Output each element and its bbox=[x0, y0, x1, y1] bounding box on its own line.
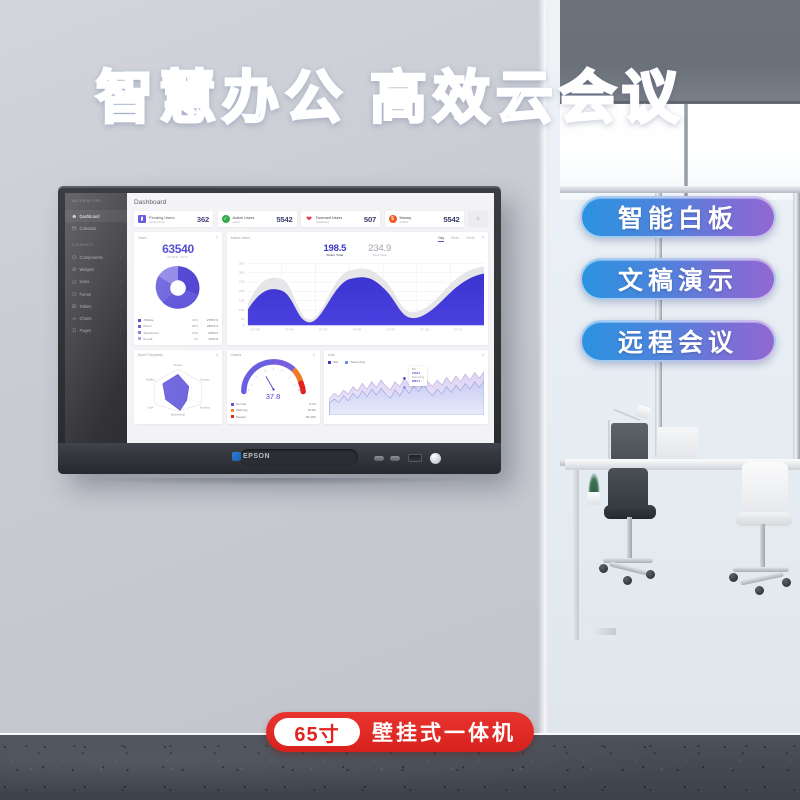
sidebar-item-pages[interactable]: Pages › bbox=[65, 325, 127, 337]
feature-badge-remote-meeting[interactable]: 远程会议 bbox=[580, 320, 776, 362]
book-icon: ▮ bbox=[138, 215, 146, 223]
svg-text:350: 350 bbox=[238, 262, 244, 266]
desk-leg bbox=[572, 470, 579, 640]
active-users-card: Active Users Day Week Month 198.5 B bbox=[227, 232, 489, 345]
sales-total-value: 63540 bbox=[138, 242, 218, 256]
gear-icon[interactable] bbox=[215, 353, 219, 357]
chair-caster bbox=[646, 570, 655, 579]
port-1[interactable] bbox=[374, 456, 384, 461]
sales-more-info-link[interactable]: MORE INFO bbox=[138, 255, 218, 259]
page-title: 智慧办公 高效云会议 bbox=[96, 62, 716, 134]
wall-mounted-display: Material Pro Dashboard Calendar Elements… bbox=[58, 186, 501, 474]
svg-text:07-10: 07-10 bbox=[420, 328, 429, 331]
chevron-right-icon: › bbox=[120, 280, 121, 284]
chair-caster bbox=[599, 564, 608, 573]
stat-card-money[interactable]: $ Money dollars 5542 bbox=[385, 211, 464, 227]
legend-label: Swimming bbox=[350, 360, 364, 364]
sidebar-item-calendar[interactable]: Calendar bbox=[65, 222, 127, 234]
desk-lamp-post bbox=[608, 420, 610, 460]
legend-label: Sponsored bbox=[144, 331, 186, 335]
home-icon bbox=[72, 214, 77, 219]
sidebar-item-dashboard[interactable]: Dashboard bbox=[65, 210, 127, 222]
port-2[interactable] bbox=[390, 456, 400, 461]
legend-value: 22874.4 bbox=[198, 324, 218, 328]
sport-popularity-card: Sport Popularity bbox=[134, 350, 222, 424]
sidebar-item-label: Pages bbox=[80, 328, 92, 333]
legend-swatch bbox=[138, 337, 141, 340]
window-frame-horizontal bbox=[560, 186, 800, 193]
screen-size-label: 65寸 bbox=[274, 718, 360, 746]
form-icon bbox=[72, 292, 77, 297]
usb-port[interactable] bbox=[408, 454, 422, 462]
legend-label: Bid bbox=[334, 360, 338, 364]
monitor-back bbox=[611, 423, 648, 461]
chair-post bbox=[627, 517, 632, 561]
chevron-right-icon: › bbox=[120, 316, 121, 320]
dashboard-row-2: Sport Popularity bbox=[134, 350, 488, 424]
feature-badge-list: 智能白板 文稿演示 远程会议 bbox=[580, 196, 780, 382]
gauge-chart-svg: 0100 bbox=[231, 357, 316, 397]
metric-row: 198.5 Boiler Total 234.9 Flow Total bbox=[231, 243, 485, 257]
sidebar-item-tables[interactable]: Tables › bbox=[65, 300, 127, 312]
chevron-right-icon: › bbox=[120, 292, 121, 296]
legend-swatch bbox=[231, 409, 234, 412]
sidebar-item-label: Components bbox=[80, 255, 103, 260]
legend-label: Warning bbox=[236, 408, 296, 412]
legend-swatch bbox=[138, 319, 141, 322]
add-card-button[interactable]: + bbox=[468, 211, 488, 227]
legend-swatch bbox=[138, 331, 141, 334]
brand-logo: EPSON bbox=[232, 452, 270, 461]
power-led[interactable] bbox=[430, 453, 441, 464]
grid-icon bbox=[72, 255, 77, 260]
metric-flow-total: 234.9 Flow Total bbox=[368, 243, 391, 257]
sidebar-item-label: Forms bbox=[80, 292, 92, 297]
legend-item: Danger 90-100 bbox=[231, 413, 316, 419]
card-title: Sales bbox=[138, 236, 218, 240]
legend-percent: 44% bbox=[185, 318, 198, 322]
legend-value: 4447.8 bbox=[198, 337, 218, 341]
legend-range: 90-100 bbox=[296, 415, 316, 419]
legend-swatch bbox=[345, 361, 348, 364]
tab-week[interactable]: Week bbox=[451, 236, 459, 242]
svg-text:100: 100 bbox=[238, 309, 244, 313]
svg-text:07-08: 07-08 bbox=[352, 328, 361, 331]
legend-label: Danger bbox=[236, 415, 296, 419]
sidebar-item-label: Widgets bbox=[80, 267, 95, 272]
device-shadow bbox=[78, 478, 478, 486]
gear-icon[interactable] bbox=[215, 235, 219, 239]
claims-gauge-card: Claims bbox=[227, 350, 320, 424]
tab-month[interactable]: Month bbox=[466, 236, 475, 242]
legend-swatch bbox=[231, 415, 234, 418]
svg-text:Basketball: Basketball bbox=[171, 413, 185, 417]
chair-caster bbox=[623, 576, 632, 585]
legend-swatch bbox=[328, 361, 331, 364]
display-bottom-bezel: EPSON bbox=[58, 443, 501, 474]
legend-percent: 13% bbox=[185, 331, 198, 335]
chair-caster bbox=[755, 586, 764, 595]
sidebar-item-forms[interactable]: Forms › bbox=[65, 288, 127, 300]
leaf-icon: ✓ bbox=[222, 215, 230, 223]
legend-range: 70-90 bbox=[296, 408, 316, 412]
sales-card: Sales 63540 MORE INFO bbox=[134, 232, 222, 345]
chair-caster bbox=[729, 573, 738, 582]
stat-card-pending-users[interactable]: ▮ Pending Users newly joined 362 bbox=[134, 211, 213, 227]
sidebar-item-label: Calendar bbox=[80, 226, 97, 231]
line-chart-card: Line Bid Swimming bbox=[324, 350, 488, 424]
sidebar-item-components[interactable]: Components › bbox=[65, 251, 127, 263]
svg-text:07-11: 07-11 bbox=[454, 328, 463, 331]
chart-icon bbox=[72, 316, 77, 321]
logo-text: EPSON bbox=[243, 453, 270, 460]
heart-icon: ❤ bbox=[305, 215, 313, 223]
sidebar-item-label: Charts bbox=[80, 316, 92, 321]
area-chart-svg: 0 50 100 150 200 250 300 350 07-0507-06 … bbox=[231, 259, 485, 331]
svg-text:07-06: 07-06 bbox=[285, 328, 294, 331]
svg-text:0: 0 bbox=[242, 324, 244, 328]
stat-card-active-users[interactable]: ✓ Active Users active 5542 bbox=[218, 211, 297, 227]
coin-icon: $ bbox=[389, 215, 397, 223]
svg-text:Hockey: Hockey bbox=[200, 405, 211, 409]
sidebar: Material Pro Dashboard Calendar Elements… bbox=[65, 193, 127, 443]
page-icon bbox=[72, 328, 77, 333]
star-icon bbox=[72, 280, 77, 285]
stat-sublabel: dollars bbox=[400, 220, 441, 224]
svg-text:07-05: 07-05 bbox=[251, 328, 260, 331]
svg-text:07-09: 07-09 bbox=[386, 328, 395, 331]
badge-label: 文稿演示 bbox=[618, 261, 738, 297]
stat-sublabel: undefined bbox=[316, 220, 361, 224]
sidebar-brand: Material Pro bbox=[65, 199, 127, 210]
legend-value: 27957.6 bbox=[198, 318, 218, 322]
calendar-icon bbox=[72, 226, 77, 231]
svg-text:Soccer: Soccer bbox=[200, 378, 209, 382]
svg-text:Hobby: Hobby bbox=[146, 378, 155, 382]
stat-value: 507 bbox=[364, 215, 376, 224]
legend-range: 0-70 bbox=[296, 402, 316, 406]
stat-sublabel: active bbox=[233, 220, 274, 224]
svg-text:Golf: Golf bbox=[148, 405, 154, 409]
widget-icon bbox=[72, 267, 77, 272]
chart-tooltip: Bid 7318.4 Swimming 5861.7 bbox=[409, 366, 427, 386]
radar-series-polygon bbox=[163, 374, 189, 410]
sidebar-item-charts[interactable]: Charts › bbox=[65, 312, 127, 324]
legend-percent: 7% bbox=[185, 337, 198, 341]
metric-label: Boiler Total bbox=[323, 253, 346, 257]
chevron-right-icon: › bbox=[120, 329, 121, 333]
legend-value: 8260.2 bbox=[198, 331, 218, 335]
chevron-right-icon: › bbox=[120, 304, 121, 308]
legend-label: Normal bbox=[236, 402, 296, 406]
svg-text:150: 150 bbox=[238, 299, 244, 303]
svg-text:50: 50 bbox=[240, 318, 244, 322]
svg-text:250: 250 bbox=[238, 280, 244, 284]
tooltip-value: 5861.7 bbox=[412, 380, 424, 384]
plant-pot bbox=[587, 492, 600, 505]
dashboard-app: Material Pro Dashboard Calendar Elements… bbox=[65, 193, 494, 443]
metric-boiler-total: 198.5 Boiler Total bbox=[323, 243, 346, 257]
plant-foliage bbox=[588, 472, 600, 494]
product-spec-tag: 65寸 壁挂式一体机 bbox=[266, 712, 534, 752]
table-icon bbox=[72, 304, 77, 309]
svg-text:200: 200 bbox=[238, 290, 244, 294]
desk-foot bbox=[590, 628, 616, 635]
logo-mark-icon bbox=[232, 452, 241, 461]
laptop-screen bbox=[656, 427, 698, 460]
stat-value: 5542 bbox=[443, 215, 459, 224]
svg-text:Tennis: Tennis bbox=[174, 363, 183, 367]
svg-text:300: 300 bbox=[238, 271, 244, 275]
donut-chart-svg bbox=[152, 262, 204, 314]
radar-chart-svg: Tennis Soccer Hockey Basketball Golf Hob… bbox=[138, 357, 218, 419]
sidebar-item-label: Icons bbox=[80, 279, 90, 284]
sidebar-item-label: Tables bbox=[80, 304, 92, 309]
sidebar-item-icons[interactable]: Icons › bbox=[65, 276, 127, 288]
legend-label: E-mail bbox=[144, 337, 186, 341]
legend-item: E-mail 7% 4447.8 bbox=[138, 336, 218, 342]
legend-swatch bbox=[231, 403, 234, 406]
legend-swatch bbox=[138, 325, 141, 328]
svg-text:0: 0 bbox=[247, 390, 249, 392]
card-title: Active Users bbox=[231, 236, 251, 240]
legend-label: Affiliate bbox=[144, 318, 186, 322]
sidebar-section-label: Elements bbox=[65, 234, 127, 251]
legend-label: Direct bbox=[144, 324, 186, 328]
line-chart-svg bbox=[328, 365, 484, 415]
dashboard-page-title: Dashboard bbox=[134, 199, 488, 206]
badge-label: 智能白板 bbox=[618, 199, 738, 235]
badge-label: 远程会议 bbox=[618, 323, 738, 359]
stat-value: 362 bbox=[197, 215, 209, 224]
svg-text:07-07: 07-07 bbox=[318, 328, 327, 331]
gear-icon[interactable] bbox=[481, 235, 485, 239]
chair-caster bbox=[782, 578, 791, 587]
mount-type-label: 壁挂式一体机 bbox=[372, 717, 516, 747]
legend-percent: 38% bbox=[185, 324, 198, 328]
window-frame-vertical bbox=[793, 186, 800, 466]
display-screen[interactable]: Material Pro Dashboard Calendar Elements… bbox=[65, 193, 494, 443]
dashboard-row-1: Sales 63540 MORE INFO bbox=[134, 232, 488, 345]
feature-badge-whiteboard[interactable]: 智能白板 bbox=[580, 196, 776, 238]
donut-chart bbox=[138, 262, 218, 314]
time-range-tabs: Day Week Month bbox=[438, 236, 484, 242]
stat-sublabel: newly joined bbox=[149, 220, 194, 224]
gear-icon[interactable] bbox=[481, 353, 485, 357]
stat-value: 5542 bbox=[276, 215, 292, 224]
chevron-right-icon: › bbox=[120, 255, 121, 259]
sidebar-item-label: Dashboard bbox=[80, 214, 100, 219]
stat-card-row: ▮ Pending Users newly joined 362 ✓ Activ… bbox=[134, 211, 488, 227]
feature-badge-presentation[interactable]: 文稿演示 bbox=[580, 258, 776, 300]
tab-day[interactable]: Day bbox=[438, 236, 444, 242]
chevron-right-icon: › bbox=[120, 268, 121, 272]
stat-card-dormant-users[interactable]: ❤ Dormant Users undefined 507 bbox=[301, 211, 380, 227]
sidebar-item-widgets[interactable]: Widgets › bbox=[65, 264, 127, 276]
dashboard-main: Dashboard ▮ Pending Users newly joined 3… bbox=[127, 193, 494, 443]
chair-post bbox=[760, 524, 765, 570]
card-title: Line bbox=[328, 353, 484, 357]
gear-icon[interactable] bbox=[312, 353, 316, 357]
